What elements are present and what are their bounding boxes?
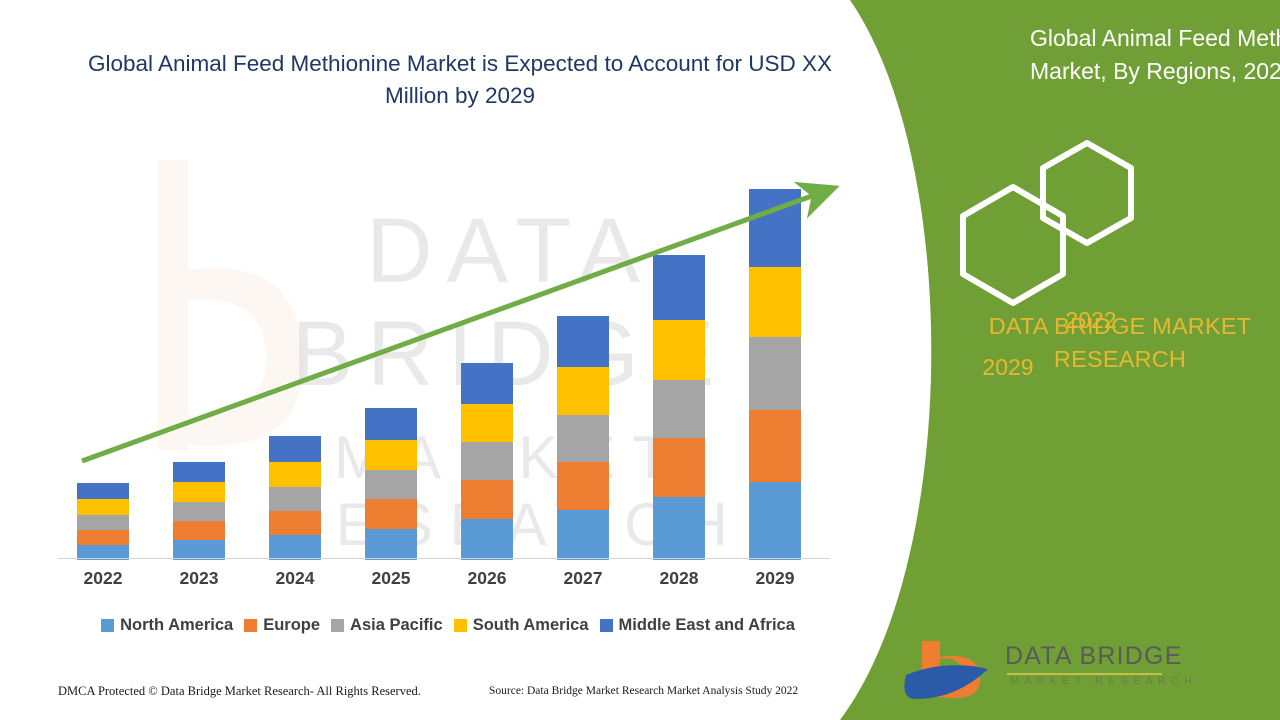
bar-column-2029 — [749, 189, 801, 560]
bar-segment-asia-pacific — [269, 487, 321, 511]
legend-label: Middle East and Africa — [619, 616, 795, 635]
bar-segment-asia-pacific — [653, 380, 705, 438]
bar-column-2028 — [653, 255, 705, 560]
legend-swatch-icon — [331, 619, 344, 632]
bar-segment-middle-east-and-africa — [653, 255, 705, 320]
x-axis-label-2029: 2029 — [730, 568, 820, 589]
bar-segment-north-america — [749, 482, 801, 560]
x-axis-line — [58, 558, 830, 559]
bar-segment-middle-east-and-africa — [557, 316, 609, 367]
x-axis-label-2027: 2027 — [538, 568, 628, 589]
bar-segment-europe — [365, 499, 417, 529]
bar-segment-north-america — [557, 510, 609, 560]
legend-swatch-icon — [244, 619, 257, 632]
bar-segment-asia-pacific — [365, 470, 417, 499]
bar-segment-south-america — [365, 440, 417, 470]
bar-segment-asia-pacific — [173, 502, 225, 521]
x-axis-label-2028: 2028 — [634, 568, 724, 589]
bar-segment-south-america — [557, 367, 609, 415]
legend-label: Europe — [263, 616, 320, 635]
bar-segment-north-america — [461, 519, 513, 560]
x-axis-label-2024: 2024 — [250, 568, 340, 589]
bar-segment-europe — [557, 462, 609, 510]
chart-plot-area — [58, 150, 833, 560]
bar-column-2022 — [77, 483, 129, 560]
bar-segment-middle-east-and-africa — [749, 189, 801, 267]
x-axis-label-2026: 2026 — [442, 568, 532, 589]
bar-segment-asia-pacific — [461, 442, 513, 480]
logo-primary-text: DATA BRIDGE — [1005, 642, 1183, 671]
bar-segment-europe — [461, 480, 513, 519]
legend-label: North America — [120, 616, 233, 635]
bar-segment-north-america — [173, 540, 225, 560]
bar-segment-europe — [269, 511, 321, 535]
bar-segment-middle-east-and-africa — [269, 436, 321, 462]
hex-badge-group: 2022 2029 — [935, 135, 1165, 310]
bar-segment-asia-pacific — [77, 515, 129, 530]
brand-name: DATA BRIDGE MARKET RESEARCH — [955, 310, 1280, 377]
footer-copyright: DMCA Protected © Data Bridge Market Rese… — [58, 684, 421, 699]
bar-segment-europe — [653, 438, 705, 497]
right-panel-title: Global Animal Feed Methionine Market, By… — [1030, 22, 1280, 87]
x-axis-label-2023: 2023 — [154, 568, 244, 589]
chart-legend: North AmericaEuropeAsia PacificSouth Ame… — [58, 616, 838, 635]
legend-swatch-icon — [600, 619, 613, 632]
legend-item-middle-east-and-africa[interactable]: Middle East and Africa — [600, 616, 795, 635]
bar-column-2026 — [461, 363, 513, 560]
bar-segment-middle-east-and-africa — [461, 363, 513, 404]
bar-segment-europe — [749, 410, 801, 482]
bar-segment-asia-pacific — [749, 337, 801, 410]
logo-mark-icon — [900, 635, 1000, 705]
bar-segment-middle-east-and-africa — [365, 408, 417, 440]
bar-segment-south-america — [653, 320, 705, 380]
legend-label: Asia Pacific — [350, 616, 443, 635]
logo-secondary-text: MARKET RESEARCH — [1010, 675, 1197, 687]
chart-title: Global Animal Feed Methionine Market is … — [60, 48, 860, 112]
bar-column-2025 — [365, 408, 417, 560]
legend-item-asia-pacific[interactable]: Asia Pacific — [331, 616, 443, 635]
bar-column-2024 — [269, 436, 321, 560]
bar-column-2027 — [557, 316, 609, 560]
footer-source: Source: Data Bridge Market Research Mark… — [489, 685, 798, 697]
bar-segment-north-america — [269, 535, 321, 560]
bar-segment-middle-east-and-africa — [77, 483, 129, 499]
bar-column-2023 — [173, 462, 225, 560]
right-panel-content: Global Animal Feed Methionine Market, By… — [840, 0, 1280, 720]
legend-swatch-icon — [101, 619, 114, 632]
legend-item-europe[interactable]: Europe — [244, 616, 320, 635]
bar-segment-south-america — [269, 462, 321, 487]
bar-segment-europe — [77, 530, 129, 545]
bar-segment-europe — [173, 521, 225, 540]
hex-badge-shapes — [935, 135, 1165, 310]
bar-segment-middle-east-and-africa — [173, 462, 225, 482]
bar-segment-north-america — [365, 529, 417, 560]
infographic-canvas: DATA BRIDGE MARKET RESEARCH Global Anima… — [0, 0, 1280, 720]
legend-label: South America — [473, 616, 589, 635]
legend-swatch-icon — [454, 619, 467, 632]
x-axis-label-2025: 2025 — [346, 568, 436, 589]
bar-segment-south-america — [173, 482, 225, 502]
company-logo: DATA BRIDGE MARKET RESEARCH — [900, 635, 1210, 705]
bar-segment-south-america — [749, 267, 801, 337]
legend-item-south-america[interactable]: South America — [454, 616, 589, 635]
bar-segment-south-america — [461, 404, 513, 442]
x-axis-labels: 20222023202420252026202720282029 — [58, 568, 833, 598]
legend-item-north-america[interactable]: North America — [101, 616, 233, 635]
bar-segment-south-america — [77, 499, 129, 515]
x-axis-label-2022: 2022 — [58, 568, 148, 589]
bar-segment-asia-pacific — [557, 415, 609, 462]
bar-segment-north-america — [653, 497, 705, 560]
